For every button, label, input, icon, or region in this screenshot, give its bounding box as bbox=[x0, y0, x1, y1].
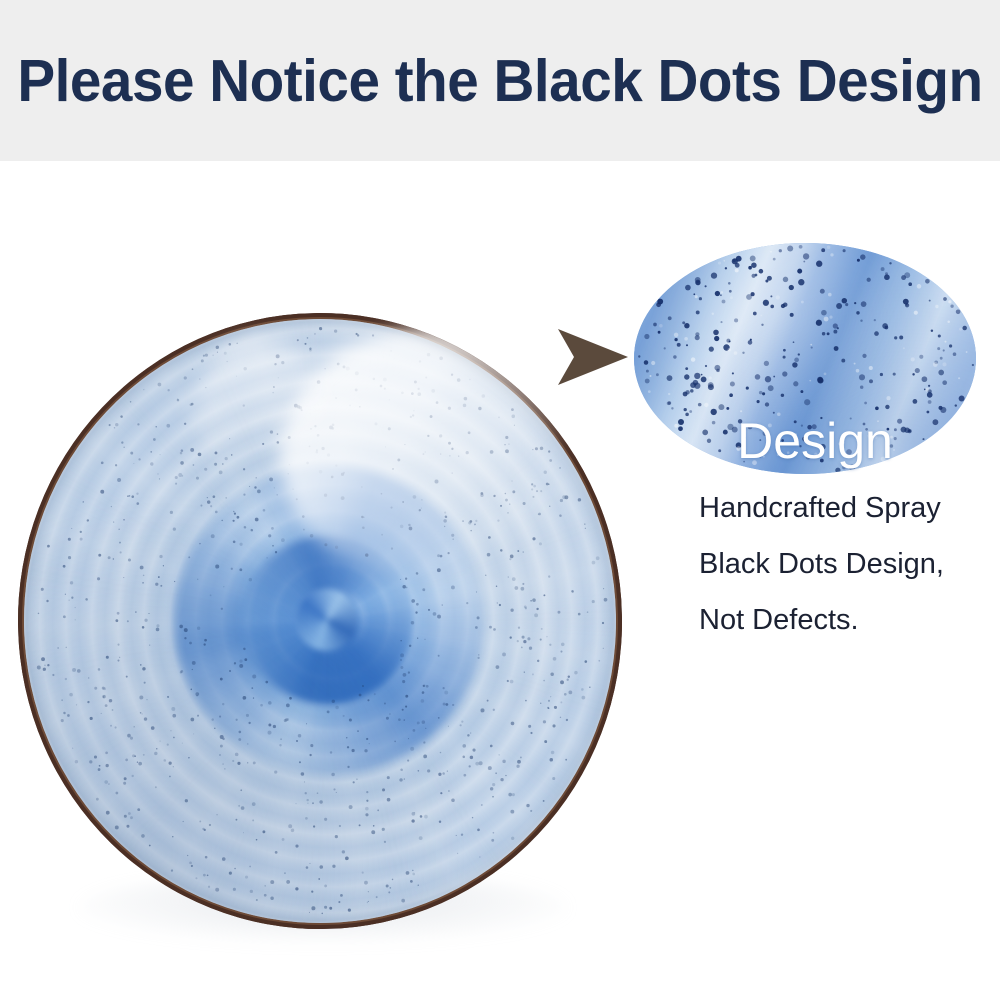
magnified-detail-callout: Design bbox=[634, 243, 976, 474]
description-line-3: Not Defects. bbox=[699, 592, 999, 648]
header-banner: Please Notice the Black Dots Design bbox=[0, 0, 1000, 161]
arrow-right-icon bbox=[556, 326, 630, 388]
ceramic-plate bbox=[12, 307, 629, 936]
description-line-2: Black Dots Design, bbox=[699, 536, 999, 592]
magnifier-label: Design bbox=[634, 243, 976, 474]
plate-photo bbox=[18, 313, 622, 931]
description-line-1: Handcrafted Spray bbox=[699, 480, 999, 536]
product-detail-image: Please Notice the Black Dots Design bbox=[0, 0, 1000, 1000]
callout-description: Handcrafted Spray Black Dots Design, Not… bbox=[699, 480, 999, 648]
page-title: Please Notice the Black Dots Design bbox=[20, 0, 980, 161]
